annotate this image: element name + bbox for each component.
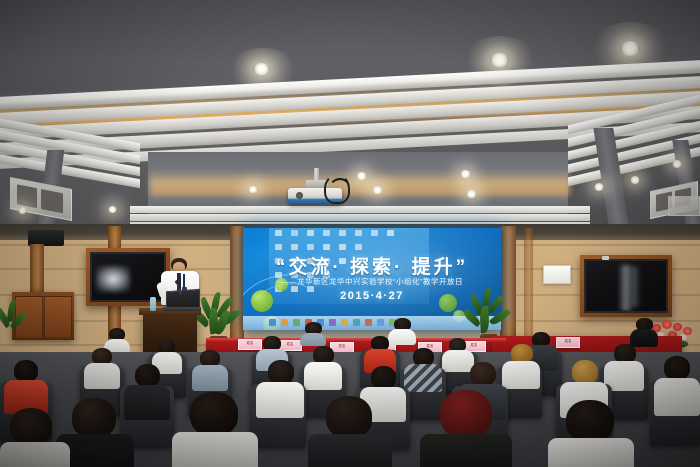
audience-member <box>604 344 644 388</box>
nameplate: 姓名 <box>556 337 580 348</box>
soffit-band <box>130 214 590 221</box>
seated-person <box>300 322 326 344</box>
monitor-screen <box>90 252 166 302</box>
audience-member <box>304 346 342 388</box>
audience-member <box>404 348 442 390</box>
ac-vent-icon <box>668 196 700 216</box>
wall-pillar <box>524 228 533 338</box>
potted-plant <box>0 300 26 350</box>
downlight-icon <box>372 186 383 194</box>
downlight-icon <box>18 207 27 214</box>
wall-placard <box>543 265 571 284</box>
downlight-icon <box>630 176 640 184</box>
audience-member <box>420 390 512 467</box>
monitor-camera-icon <box>602 256 609 260</box>
downlight-icon <box>466 190 477 198</box>
monitor-screen <box>584 259 668 313</box>
laptop-base <box>163 307 201 311</box>
ceiling-projector <box>288 168 358 216</box>
audience-member <box>192 350 228 388</box>
downlight-icon <box>672 160 682 168</box>
projection-subtitle: ——龙华新区龙华中兴实验学校“小组化”教学开放日 <box>243 276 501 287</box>
projection-screen[interactable]: “交流· 探索· 提升” ——龙华新区龙华中兴实验学校“小组化”教学开放日 20… <box>243 228 501 330</box>
downlight-icon <box>460 170 471 178</box>
downlight-icon <box>108 206 117 213</box>
audience-member <box>654 356 700 412</box>
microphone-icon <box>175 280 180 284</box>
water-bottle <box>150 297 156 311</box>
downlight-icon <box>594 183 604 191</box>
downlight-icon <box>620 41 640 56</box>
right-wall-monitor[interactable] <box>580 255 672 317</box>
downlight-icon <box>253 63 270 75</box>
wall-pillar <box>30 244 44 292</box>
projection-date: 2015·4·27 <box>243 290 501 302</box>
seated-person <box>630 318 658 346</box>
downlight-icon <box>248 186 258 193</box>
downlight-icon <box>490 53 509 67</box>
desktop-taskbar <box>243 316 501 330</box>
projection-title: “交流· 探索· 提升” <box>243 252 501 279</box>
audience-member <box>4 360 48 410</box>
audience-member <box>84 348 120 386</box>
audience-member <box>364 336 396 370</box>
audience-member <box>172 392 258 467</box>
conference-hall-photo: “交流· 探索· 提升” ——龙华新区龙华中兴实验学校“小组化”教学开放日 20… <box>0 0 700 467</box>
ceiling <box>0 0 700 232</box>
audience-member <box>308 396 392 467</box>
audience-member <box>0 408 70 467</box>
audience-member <box>256 360 304 414</box>
soffit-band <box>130 206 590 213</box>
audience-member <box>502 344 540 388</box>
audience-member <box>548 400 634 467</box>
